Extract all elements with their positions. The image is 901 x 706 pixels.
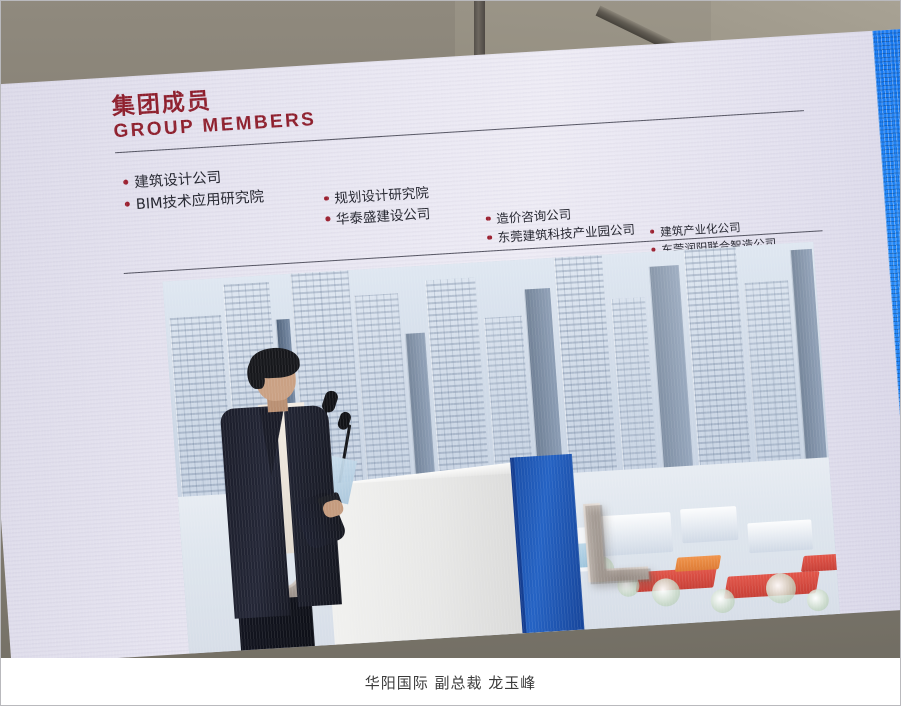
slide-title-block: 集团成员 GROUP MEMBERS: [111, 83, 317, 143]
bullet-dot-icon: [486, 216, 491, 221]
model-low-building: [680, 506, 738, 543]
bullet-dot-icon: [324, 196, 329, 201]
slide-content: 集团成员 GROUP MEMBERS 建筑设计公司 BIM技术应用研究院: [0, 31, 901, 665]
bullet-dot-icon: [123, 180, 128, 185]
model-orange-roof: [675, 555, 721, 572]
bullet-group-1: 建筑设计公司 BIM技术应用研究院: [123, 164, 265, 217]
presentation-slide: 集团成员 GROUP MEMBERS 建筑设计公司 BIM技术应用研究院: [0, 27, 901, 664]
led-screen-wall: 集团成员 GROUP MEMBERS 建筑设计公司 BIM技术应用研究院: [0, 27, 901, 664]
speaker-hair-side: [246, 359, 265, 390]
caption-bar: 华阳国际 副总裁 龙玉峰: [0, 658, 901, 706]
capol-letter-l: L: [575, 490, 654, 595]
slide-photo-scale-model: C A P O L: [162, 242, 839, 654]
model-red-roof: [801, 552, 840, 572]
bullet-dot-icon: [487, 235, 492, 240]
screenshot-root: 集团成员 GROUP MEMBERS 建筑设计公司 BIM技术应用研究院: [0, 0, 901, 706]
bullet-dot-icon: [325, 217, 330, 222]
bullet-label: 华泰盛建设公司: [335, 204, 431, 231]
caption-text: 华阳国际 副总裁 龙玉峰: [365, 672, 537, 693]
speaker-person: [208, 343, 379, 651]
bullet-dot-icon: [650, 229, 654, 233]
model-low-building: [747, 519, 813, 553]
bullet-group-3: 造价咨询公司 东莞建筑科技产业园公司: [485, 201, 636, 249]
bullet-dot-icon: [125, 202, 130, 207]
bullet-group-2: 规划设计研究院 华泰盛建设公司: [323, 183, 431, 231]
